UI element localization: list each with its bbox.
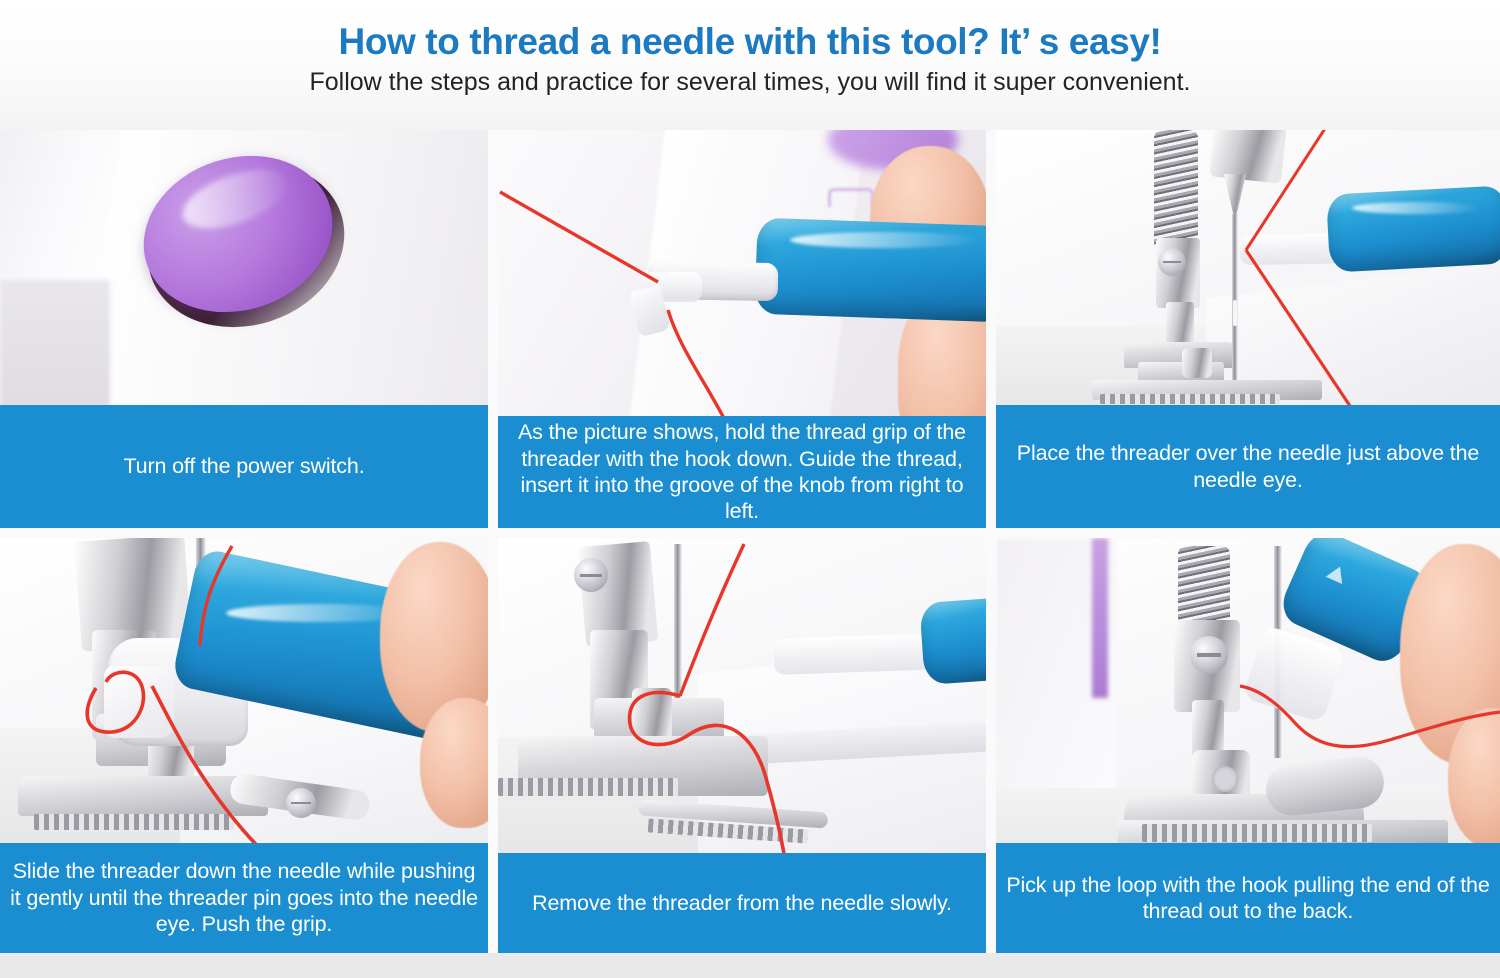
page-subtitle: Follow the steps and practice for severa…: [0, 61, 1500, 95]
bottom-strip: [0, 953, 1500, 978]
step-caption-1: Turn off the power switch.: [0, 405, 488, 528]
step-panel-3: Place the threader over the needle just …: [996, 130, 1500, 528]
steps-grid: ON OFF Turn off the power switch.: [0, 130, 1500, 953]
thread-path: [498, 538, 986, 898]
step-panel-2: As the picture shows, hold the thread gr…: [498, 130, 986, 528]
step-caption-3: Place the threader over the needle just …: [996, 405, 1500, 528]
thread-path: [498, 130, 986, 430]
step-caption-4: Slide the threader down the needle while…: [0, 843, 488, 953]
step-panel-4: Slide the threader down the needle while…: [0, 538, 488, 953]
instruction-infographic: How to thread a needle with this tool? I…: [0, 0, 1500, 978]
step-panel-5: Remove the threader from the needle slow…: [498, 538, 986, 953]
page-title: How to thread a needle with this tool? I…: [0, 0, 1500, 61]
step-panel-1: ON OFF Turn off the power switch.: [0, 130, 488, 528]
step-panel-6: Pick up the loop with the hook pulling t…: [996, 538, 1500, 953]
step-caption-2: As the picture shows, hold the thread gr…: [498, 416, 986, 528]
thread-path: [996, 130, 1500, 450]
step-caption-6: Pick up the loop with the hook pulling t…: [996, 843, 1500, 953]
step-caption-5: Remove the threader from the needle slow…: [498, 853, 986, 953]
header: How to thread a needle with this tool? I…: [0, 0, 1500, 130]
